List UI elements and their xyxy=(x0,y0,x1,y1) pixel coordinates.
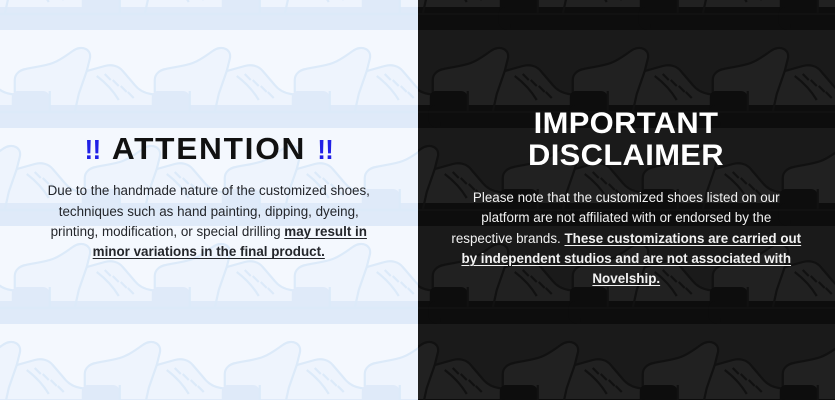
customization-notice-banner: !!ATTENTION!! Due to the handmade nature… xyxy=(0,0,835,400)
disclaimer-content: IMPORTANTDISCLAIMER Please note that the… xyxy=(450,108,802,289)
attention-content: !!ATTENTION!! Due to the handmade nature… xyxy=(44,133,374,263)
double-exclamation-right-icon: !! xyxy=(317,136,333,165)
disclaimer-heading: IMPORTANTDISCLAIMER xyxy=(445,108,808,172)
attention-panel: !!ATTENTION!! Due to the handmade nature… xyxy=(0,0,418,400)
attention-heading: !!ATTENTION!! xyxy=(40,133,377,165)
disclaimer-body-text: Please note that the customized shoes li… xyxy=(450,188,802,290)
disclaimer-panel: IMPORTANTDISCLAIMER Please note that the… xyxy=(418,0,835,400)
attention-heading-text: ATTENTION xyxy=(112,131,306,166)
disclaimer-heading-line1: IMPORTANT xyxy=(534,107,719,140)
double-exclamation-left-icon: !! xyxy=(84,136,100,165)
attention-body-text: Due to the handmade nature of the custom… xyxy=(44,181,374,263)
disclaimer-heading-line2: DISCLAIMER xyxy=(528,139,724,172)
